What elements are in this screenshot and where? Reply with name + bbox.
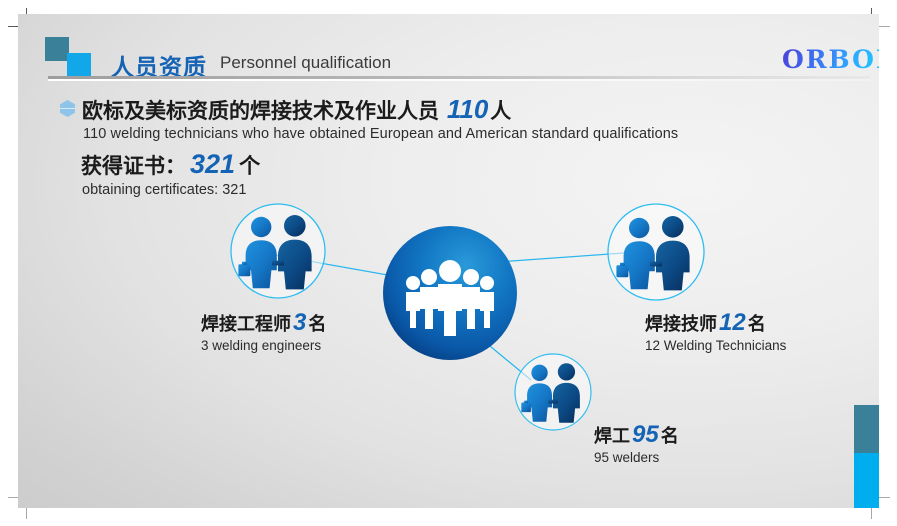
label-welding-engineers: 焊接工程师3名 3 welding engineers [201,310,326,354]
label-welders-number: 95 [630,421,661,448]
label-welders-en: 95 welders [594,451,679,466]
accent-block-teal [854,405,879,453]
node-welding-engineers[interactable] [231,204,325,298]
label-welding-engineers-cn-prefix: 焊接工程师 [201,314,291,334]
label-welding-technicians-cn: 焊接技师12名 [645,310,786,336]
label-welding-technicians: 焊接技师12名 12 Welding Technicians [645,310,786,354]
node-circle-bottom [515,354,591,430]
label-welders-cn-prefix: 焊工 [594,426,630,446]
label-welders-cn: 焊工95名 [594,422,679,448]
slide-canvas: 人员资质 Personnel qualification ORBON 欧标及美标… [0,0,897,526]
node-center-hub[interactable] [383,226,517,360]
label-welding-engineers-cn: 焊接工程师3名 [201,310,326,336]
node-circle-right [608,204,704,300]
label-welding-technicians-en: 12 Welding Technicians [645,339,786,354]
node-welding-technicians[interactable] [608,204,704,300]
label-welding-engineers-number: 3 [291,309,308,336]
label-welders: 焊工95名 95 welders [594,422,679,466]
accent-block-cyan [854,453,879,508]
node-welders[interactable] [515,354,591,430]
label-welding-engineers-en: 3 welding engineers [201,339,326,354]
label-welding-technicians-cn-prefix: 焊接技师 [645,314,717,334]
workforce-diagram [18,14,879,508]
label-welders-cn-suffix: 名 [661,426,679,446]
slide-body: 人员资质 Personnel qualification ORBON 欧标及美标… [18,14,879,508]
label-welding-technicians-number: 12 [717,309,748,336]
label-welding-engineers-cn-suffix: 名 [308,314,326,334]
label-welding-technicians-cn-suffix: 名 [748,314,766,334]
